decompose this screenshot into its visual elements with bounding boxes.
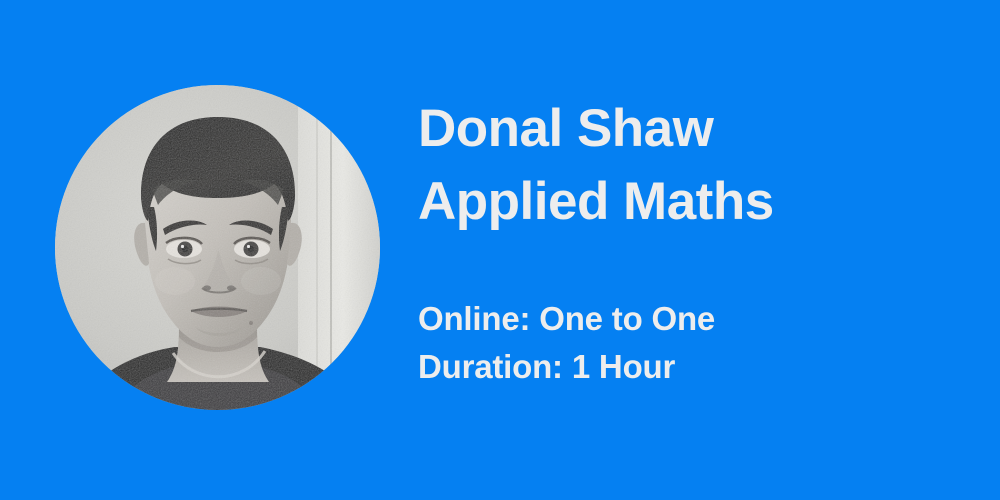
session-format: Online: One to One: [418, 295, 958, 343]
portrait-photo: [55, 85, 380, 410]
session-details-block: Online: One to One Duration: 1 Hour: [418, 295, 958, 391]
tutor-name: Donal Shaw: [418, 92, 958, 165]
session-duration: Duration: 1 Hour: [418, 343, 958, 391]
tutor-profile-card: Donal Shaw Applied Maths Online: One to …: [0, 0, 1000, 500]
heading-block: Donal Shaw Applied Maths: [418, 92, 958, 238]
tutor-subject: Applied Maths: [418, 165, 958, 238]
avatar: [55, 85, 380, 410]
